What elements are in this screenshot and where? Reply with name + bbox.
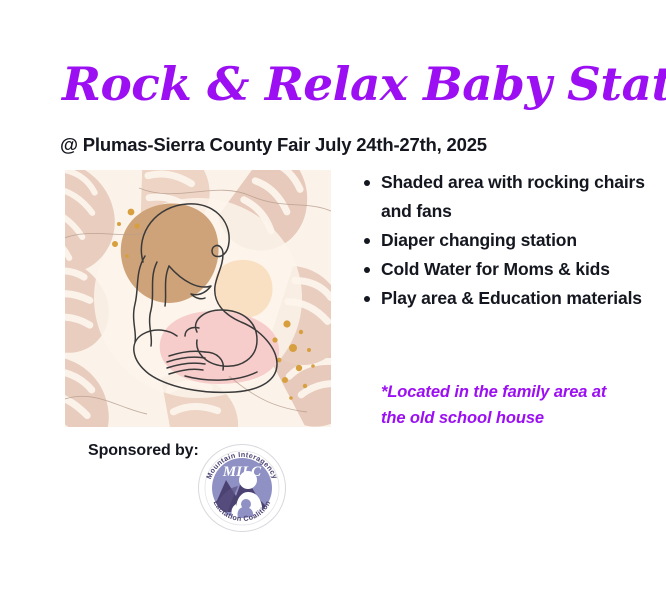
location-note: *Located in the family area at the old s… — [381, 379, 631, 431]
list-item: Diaper changing station — [360, 226, 650, 255]
logo-center-text: MILC — [222, 464, 262, 480]
event-subtitle: @ Plumas-Sierra County Fair July 24th-27… — [60, 133, 487, 157]
peach-blob — [215, 260, 273, 318]
list-item: Shaded area with rocking chairs and fans — [360, 168, 650, 226]
feature-list: Shaded area with rocking chairs and fans… — [360, 168, 650, 313]
page-title: Rock & Relax Baby Station — [62, 58, 633, 110]
milc-logo: MILC Mountain Interagency Lactation Coal… — [194, 440, 290, 536]
flyer-canvas: Rock & Relax Baby Station @ Plumas-Sierr… — [0, 0, 666, 596]
list-item: Cold Water for Moms & kids — [360, 255, 650, 284]
sponsored-by-label: Sponsored by: — [88, 441, 199, 461]
list-item: Play area & Education materials — [360, 284, 650, 313]
mother-and-baby-illustration — [65, 170, 331, 427]
